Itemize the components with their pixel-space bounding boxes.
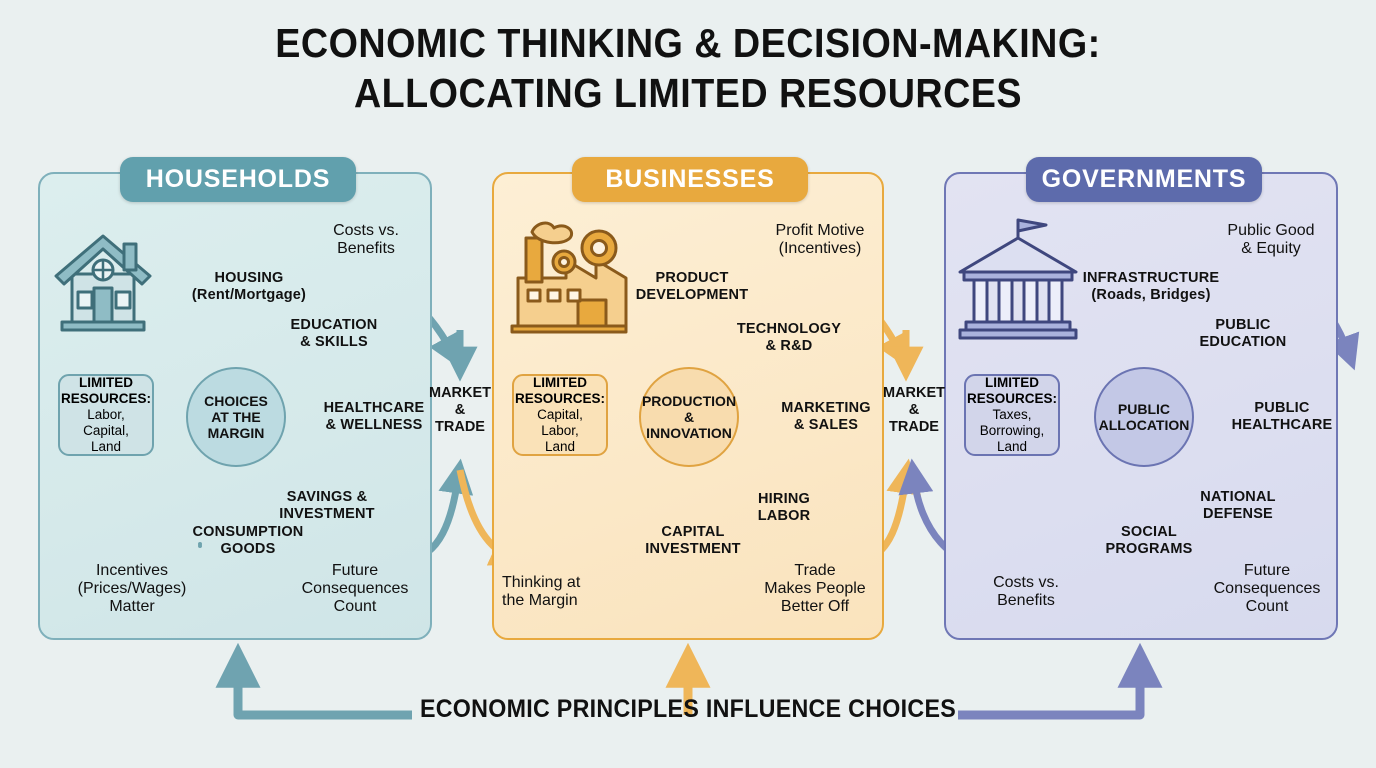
spoke-cap-l1: CAPITAL xyxy=(612,524,774,541)
principle-br-l3: Better Off xyxy=(746,598,884,616)
hub-production-innovation[interactable]: PRODUCTION & INNOVATION xyxy=(639,367,739,467)
panel-header-governments: GOVERNMENTS xyxy=(1026,157,1262,202)
mt-right-l3: TRADE xyxy=(876,419,952,436)
principle-br-l2: Makes People xyxy=(746,580,884,598)
spoke-public-healthcare: PUBLIC HEALTHCARE xyxy=(1218,400,1346,433)
spoke-phc-l1: PUBLIC xyxy=(1218,400,1346,417)
page-title: ECONOMIC THINKING & DECISION-MAKING: ALL… xyxy=(55,18,1321,118)
principle-bl-l2: the Margin xyxy=(502,592,648,610)
principle-top-l2: (Incentives) xyxy=(746,240,894,258)
spoke-tech-l1: TECHNOLOGY xyxy=(722,321,856,338)
principle-bl-l1: Thinking at xyxy=(502,574,648,592)
spoke-hire-l2: LABOR xyxy=(728,508,840,525)
principle-bl-l2: Benefits xyxy=(956,592,1096,610)
resource-title-l2: RESOURCES: xyxy=(61,391,151,407)
hub-hh-l2: AT THE xyxy=(204,409,268,425)
spoke-healthcare-l2: & WELLNESS xyxy=(312,417,436,434)
title-line-2: ALLOCATING LIMITED RESOURCES xyxy=(55,68,1321,118)
mt-right-l2: & xyxy=(876,402,952,419)
spoke-tech-l2: & R&D xyxy=(722,338,856,355)
panel-header-households: HOUSEHOLDS xyxy=(120,157,356,202)
spoke-pd-l1: PRODUCT xyxy=(610,270,774,287)
principle-bl-l3: Matter xyxy=(44,598,220,616)
spoke-housing: HOUSING (Rent/Mortgage) xyxy=(166,270,332,303)
principle-br-l2: Consequences xyxy=(1194,580,1340,598)
resource-title-l2: RESOURCES: xyxy=(515,391,605,407)
principle-br-l3: Count xyxy=(1194,598,1340,616)
principle-top-l2: Benefits xyxy=(302,240,430,258)
principle-bl-l1: Incentives xyxy=(44,562,220,580)
mt-left-l2: & xyxy=(422,402,498,419)
principle-public-good-equity: Public Good & Equity xyxy=(1198,222,1344,258)
resource-box-governments: LIMITED RESOURCES: Taxes, Borrowing, Lan… xyxy=(964,374,1060,456)
spoke-education: EDUCATION & SKILLS xyxy=(268,317,400,350)
spoke-product-development: PRODUCT DEVELOPMENT xyxy=(610,270,774,303)
spoke-hire-l1: HIRING xyxy=(728,491,840,508)
panel-header-businesses: BUSINESSES xyxy=(572,157,808,202)
hub-hh-l3: MARGIN xyxy=(204,425,268,441)
resource-box-households: LIMITED RESOURCES: Labor, Capital, Land xyxy=(58,374,154,456)
title-line-1: ECONOMIC THINKING & DECISION-MAKING: xyxy=(275,20,1100,66)
resource-item-2: Capital, xyxy=(83,423,129,439)
resource-item-3: Land xyxy=(997,439,1027,455)
spoke-housing-l1: HOUSING xyxy=(166,270,332,287)
principle-top-l1: Costs vs. xyxy=(302,222,430,240)
principle-br-l1: Future xyxy=(1194,562,1340,580)
spoke-healthcare: HEALTHCARE & WELLNESS xyxy=(312,400,436,433)
spoke-mkt-l1: MARKETING xyxy=(766,400,886,417)
spoke-marketing-sales: MARKETING & SALES xyxy=(766,400,886,433)
resource-title-l1: LIMITED xyxy=(79,375,133,391)
principle-top-l1: Profit Motive xyxy=(746,222,894,240)
spoke-public-education: PUBLIC EDUCATION xyxy=(1178,317,1308,350)
principle-br-l1: Trade xyxy=(746,562,884,580)
spoke-pedu-l1: PUBLIC xyxy=(1178,317,1308,334)
hub-gov-l2: ALLOCATION xyxy=(1099,417,1190,433)
hub-gov-l1: PUBLIC xyxy=(1099,401,1190,417)
resource-title-l1: LIMITED xyxy=(533,375,587,391)
resource-item-3: Land xyxy=(91,439,121,455)
principle-costs-benefits-gov: Costs vs. Benefits xyxy=(956,574,1096,610)
spoke-def-l1: NATIONAL xyxy=(1176,489,1300,506)
resource-item-3: Land xyxy=(545,439,575,455)
principle-costs-benefits: Costs vs. Benefits xyxy=(302,222,430,258)
principle-top-l2: & Equity xyxy=(1198,240,1344,258)
spoke-pedu-l2: EDUCATION xyxy=(1178,334,1308,351)
spoke-soc-l1: SOCIAL xyxy=(1068,524,1230,541)
hub-choices-at-the-margin[interactable]: CHOICES AT THE MARGIN xyxy=(186,367,286,467)
house-icon xyxy=(48,222,172,342)
mt-left-l3: TRADE xyxy=(422,419,498,436)
spoke-infrastructure: INFRASTRUCTURE (Roads, Bridges) xyxy=(1056,270,1246,303)
mt-left-l1: MARKET xyxy=(422,385,498,402)
principle-top-l1: Public Good xyxy=(1198,222,1344,240)
spoke-education-l2: & SKILLS xyxy=(268,334,400,351)
spoke-national-defense: NATIONAL DEFENSE xyxy=(1176,489,1300,522)
spoke-mkt-l2: & SALES xyxy=(766,417,886,434)
spoke-savings-l1: SAVINGS & xyxy=(262,489,392,506)
principle-br-l1: Future xyxy=(282,562,428,580)
bottom-banner-text: ECONOMIC PRINCIPLES INFLUENCE CHOICES xyxy=(48,695,1328,724)
principle-future-consequences-gov: Future Consequences Count xyxy=(1194,562,1340,617)
market-trade-left: MARKET & TRADE xyxy=(422,385,498,435)
resource-item-2: Borrowing, xyxy=(980,423,1045,439)
spoke-consumption-l1: CONSUMPTION xyxy=(160,524,336,541)
mt-right-l1: MARKET xyxy=(876,385,952,402)
principle-future-consequences: Future Consequences Count xyxy=(282,562,428,617)
principle-bl-l2: (Prices/Wages) xyxy=(44,580,220,598)
spoke-education-l1: EDUCATION xyxy=(268,317,400,334)
spoke-technology-rd: TECHNOLOGY & R&D xyxy=(722,321,856,354)
principle-br-l2: Consequences xyxy=(282,580,428,598)
spoke-soc-l2: PROGRAMS xyxy=(1068,541,1230,558)
principle-bl-l1: Costs vs. xyxy=(956,574,1096,592)
resource-item-1: Labor, xyxy=(87,407,125,423)
resource-item-1: Taxes, xyxy=(992,407,1031,423)
spoke-infra-l1: INFRASTRUCTURE xyxy=(1056,270,1246,287)
spoke-cap-l2: INVESTMENT xyxy=(612,541,774,558)
spoke-hiring-labor: HIRING LABOR xyxy=(728,491,840,524)
spoke-consumption: CONSUMPTION GOODS xyxy=(160,524,336,557)
resource-item-2: Labor, xyxy=(541,423,579,439)
spoke-pd-l2: DEVELOPMENT xyxy=(610,287,774,304)
spoke-social-programs: SOCIAL PROGRAMS xyxy=(1068,524,1230,557)
hub-bz-l3: INNOVATION xyxy=(642,425,736,441)
hub-hh-l1: CHOICES xyxy=(204,393,268,409)
diagram-canvas: ECONOMIC THINKING & DECISION-MAKING: ALL… xyxy=(0,0,1376,768)
resource-item-1: Capital, xyxy=(537,407,583,423)
spoke-housing-l2: (Rent/Mortgage) xyxy=(166,287,332,304)
principle-incentives: Incentives (Prices/Wages) Matter xyxy=(44,562,220,617)
resource-title-l2: RESOURCES: xyxy=(967,391,1057,407)
spoke-consumption-l2: GOODS xyxy=(160,541,336,558)
spoke-phc-l2: HEALTHCARE xyxy=(1218,417,1346,434)
spoke-savings-l2: INVESTMENT xyxy=(262,506,392,523)
hub-public-allocation[interactable]: PUBLIC ALLOCATION xyxy=(1094,367,1194,467)
hub-bz-l2: & xyxy=(642,409,736,425)
resource-title-l1: LIMITED xyxy=(985,375,1039,391)
market-trade-right: MARKET & TRADE xyxy=(876,385,952,435)
spoke-savings: SAVINGS & INVESTMENT xyxy=(262,489,392,522)
hub-bz-l1: PRODUCTION xyxy=(642,393,736,409)
principle-thinking-margin: Thinking at the Margin xyxy=(502,574,648,610)
principle-br-l3: Count xyxy=(282,598,428,616)
principle-trade-better-off: Trade Makes People Better Off xyxy=(746,562,884,617)
spoke-healthcare-l1: HEALTHCARE xyxy=(312,400,436,417)
spoke-infra-l2: (Roads, Bridges) xyxy=(1056,287,1246,304)
spoke-def-l2: DEFENSE xyxy=(1176,506,1300,523)
spoke-capital-investment: CAPITAL INVESTMENT xyxy=(612,524,774,557)
principle-profit-motive: Profit Motive (Incentives) xyxy=(746,222,894,258)
resource-box-businesses: LIMITED RESOURCES: Capital, Labor, Land xyxy=(512,374,608,456)
